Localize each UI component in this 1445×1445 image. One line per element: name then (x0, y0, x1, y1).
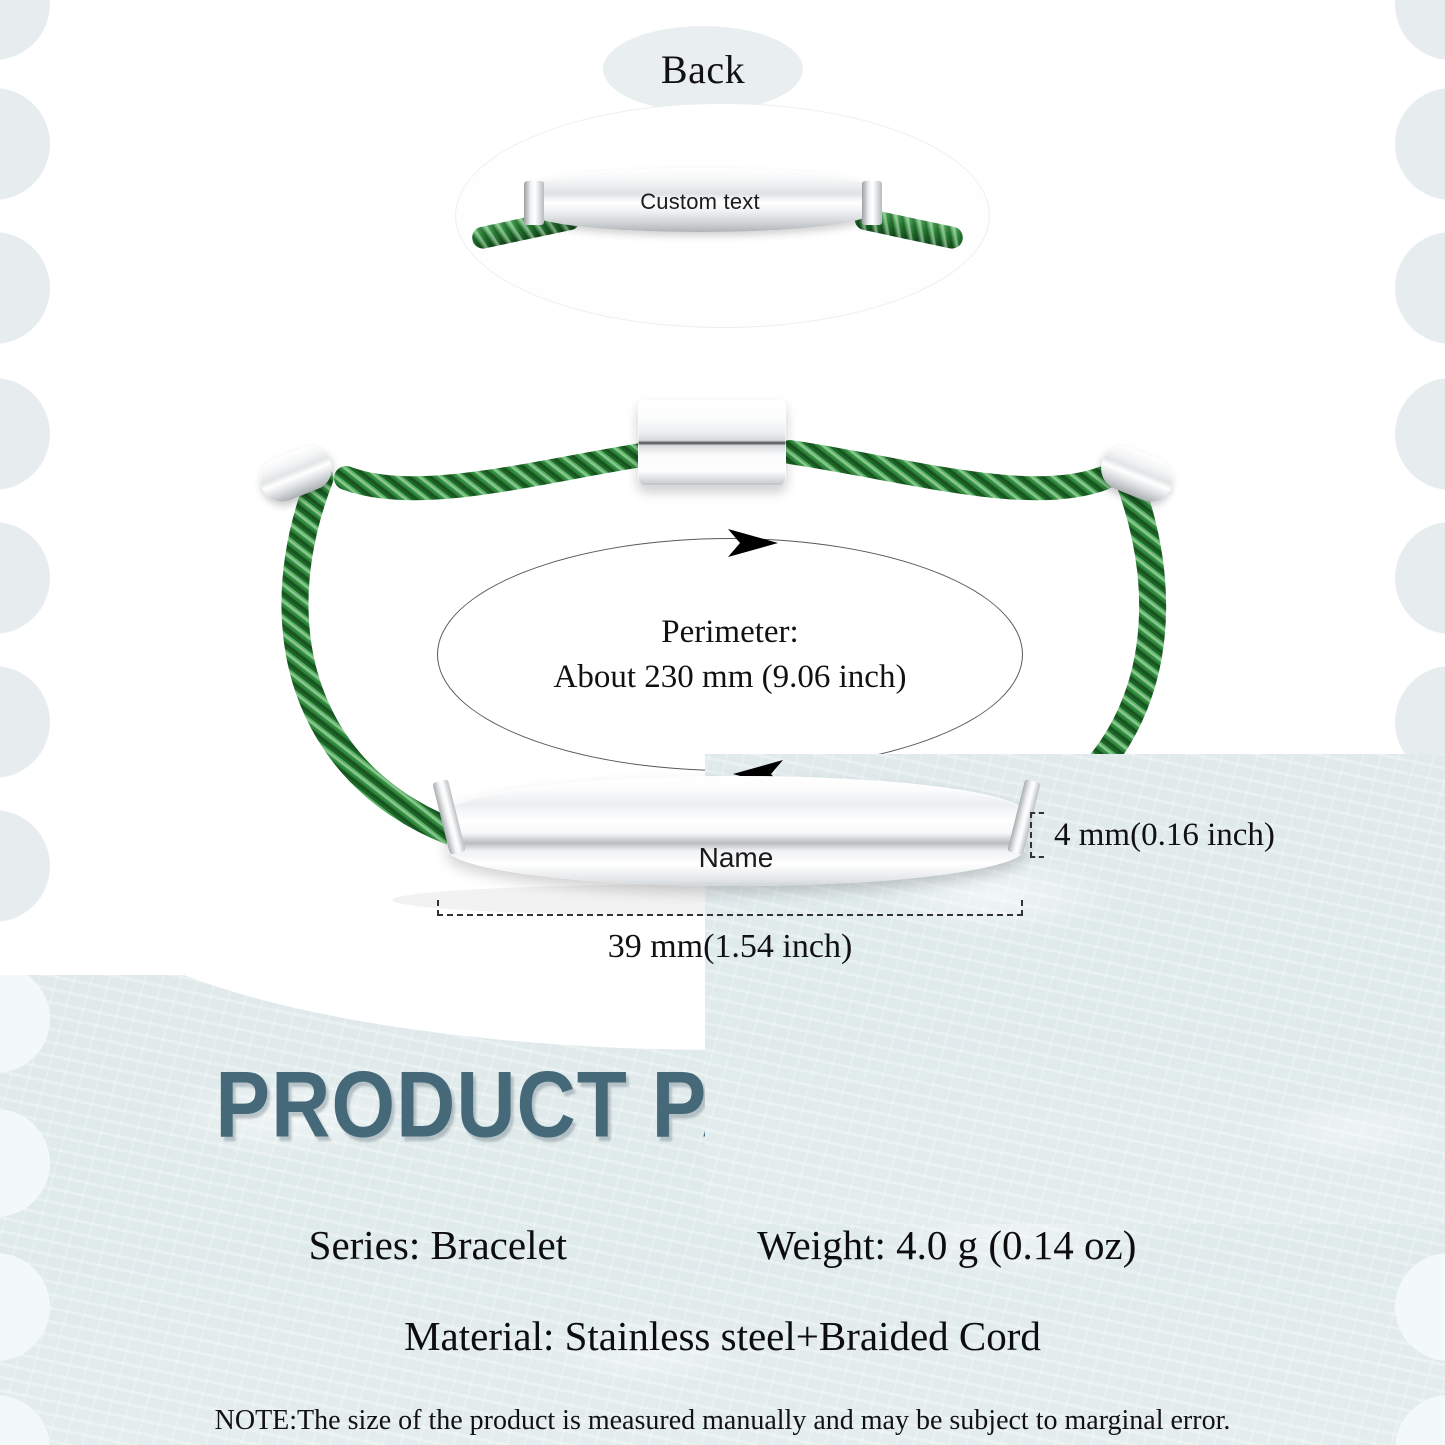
back-bar-endcap-left (524, 181, 544, 225)
perimeter-label: Perimeter: (661, 610, 798, 655)
adjustable-slider-bead (638, 400, 786, 486)
weight-value: Weight: 4.0 g (0.14 oz) (757, 1221, 1136, 1269)
material-value: Material: Stainless steel+Braided Cord (404, 1312, 1041, 1360)
perimeter-callout: Perimeter: About 230 mm (9.06 inch) (437, 538, 1023, 771)
decor-circle (1395, 232, 1445, 344)
length-bracket-icon (437, 900, 1023, 916)
decor-circle (0, 232, 50, 344)
decor-circle (0, 88, 50, 200)
name-id-bar: Name (447, 776, 1025, 886)
decor-circle (1395, 88, 1445, 200)
thickness-bracket-icon (1030, 812, 1044, 858)
perimeter-value: About 230 mm (9.06 inch) (554, 655, 907, 700)
back-id-bar-face: Custom text (530, 185, 870, 220)
decor-circle (0, 0, 50, 60)
back-bar-endcap-right (862, 181, 882, 225)
product-infographic: Back Custom text (0, 0, 1445, 1445)
series-value: Series: Bracelet (309, 1221, 567, 1269)
length-value: 39 mm(1.54 inch) (437, 928, 1023, 966)
back-view-label-pill: Back (603, 26, 803, 112)
thickness-dimension: 4 mm(0.16 inch) (1030, 812, 1275, 858)
thickness-value: 4 mm(0.16 inch) (1054, 817, 1275, 854)
length-dimension: 39 mm(1.54 inch) (437, 900, 1023, 966)
name-bar-engraving-text: Name (447, 842, 1025, 874)
measurement-note: NOTE:The size of the product is measured… (0, 1405, 1445, 1437)
back-view-label: Back (661, 46, 745, 93)
back-bar-engraving-text: Custom text (640, 189, 760, 215)
parameters-row-primary: Series: Bracelet Weight: 4.0 g (0.14 oz) (0, 1221, 1445, 1269)
perimeter-arrow-clockwise-icon (700, 523, 810, 563)
parameters-row-material: Material: Stainless steel+Braided Cord (0, 1312, 1445, 1360)
decor-circle (1395, 0, 1445, 60)
back-id-bar: Custom text (530, 168, 870, 232)
